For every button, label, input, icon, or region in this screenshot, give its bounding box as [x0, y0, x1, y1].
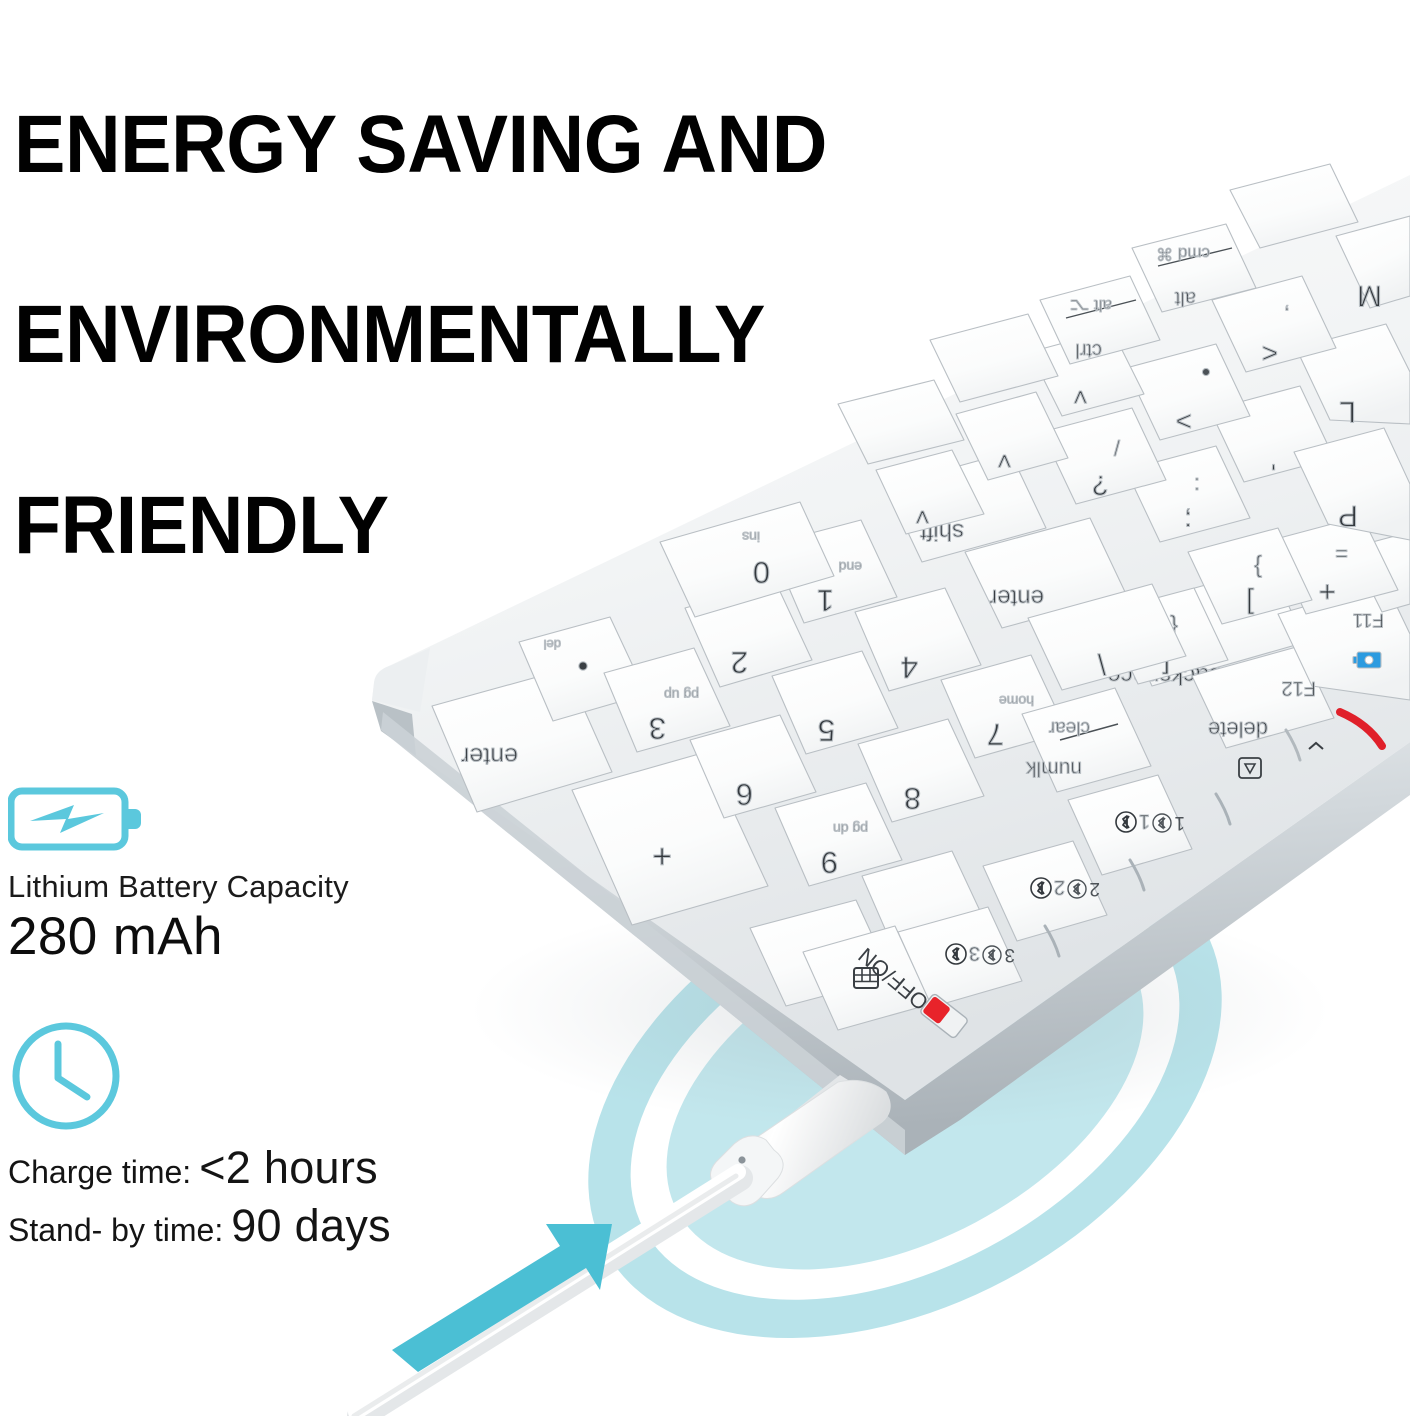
svg-text:=: = — [1335, 541, 1348, 566]
svg-text:5: 5 — [818, 713, 835, 748]
svg-text:enter: enter — [989, 584, 1044, 611]
svg-text::: : — [1194, 473, 1200, 498]
charge-time-label: Charge time: — [8, 1152, 191, 1193]
charge-direction-arrow — [392, 1224, 612, 1372]
svg-text:˅: ˅ — [1073, 382, 1088, 412]
key-comma: < , — [1212, 276, 1336, 372]
headline-line-1: ENERGY SAVING AND — [14, 97, 916, 192]
svg-text:6: 6 — [736, 777, 753, 812]
calculator-icon — [854, 968, 878, 988]
key-period: > — [1126, 344, 1250, 440]
bluetooth-icon — [946, 944, 966, 964]
headline: ENERGY SAVING AND ENVIRONMENTALLY FRIEND… — [14, 2, 916, 668]
charging-led-stripe — [1340, 712, 1382, 746]
key-alt-cmd: alt cmd ⌘ — [1132, 224, 1256, 312]
key-numpad-enter: enter — [432, 669, 612, 812]
key-backslash: \ — [1028, 584, 1186, 690]
svg-text:>: > — [1176, 406, 1192, 437]
key-slash: ? / — [1042, 408, 1166, 504]
key-bracket-left: [ { — [1104, 588, 1228, 684]
charge-time-value: <2 hours — [199, 1139, 378, 1197]
feature-charge-time: Charge time: <2 hours Stand- by time: 90… — [8, 1018, 391, 1254]
svg-text:+: + — [652, 837, 672, 875]
svg-text:2: 2 — [1054, 876, 1065, 898]
key-arrow-up: ˅ — [956, 392, 1068, 480]
key-quote: ' — [1210, 386, 1334, 482]
svg-text:?: ? — [1092, 470, 1108, 501]
svg-text:numlk: numlk — [1025, 757, 1082, 780]
key-delete: delete — [1192, 646, 1334, 748]
svg-text:M: M — [1357, 279, 1382, 312]
svg-text:': ' — [1271, 446, 1276, 476]
key-numlock-clear: numlk clear — [1022, 688, 1151, 792]
svg-text:{: { — [1170, 614, 1178, 641]
capslock-indicator-icon — [1239, 758, 1261, 778]
chassis-bluetooth-3: 3 — [983, 944, 1015, 965]
bluetooth-icon — [1116, 812, 1136, 832]
key-blank-2 — [930, 314, 1058, 402]
svg-text:9: 9 — [821, 845, 838, 880]
svg-text:F12: F12 — [1282, 677, 1316, 699]
svg-text:3: 3 — [649, 711, 666, 746]
usb-c-cable — [354, 1075, 890, 1416]
headline-line-2: ENVIRONMENTALLY — [14, 287, 916, 382]
svg-text:OFF/ON: OFF/ON — [853, 943, 933, 1016]
standby-time-label: Stand- by time: — [8, 1210, 223, 1251]
key-numpad-plus: + — [572, 752, 768, 925]
battery-charging-icon — [8, 786, 144, 852]
key-f11: F11 — [1350, 532, 1410, 630]
svg-text:]: ] — [1246, 588, 1254, 619]
key-enter-main: enter — [965, 518, 1126, 628]
key-bracket-right: ] } — [1188, 528, 1312, 624]
svg-text:L: L — [1339, 395, 1356, 428]
chassis-indicators: 3 2 1 — [983, 712, 1382, 965]
battery-capacity-label: Lithium Battery Capacity — [8, 869, 349, 905]
charge-time-line: Charge time: <2 hours — [8, 1139, 391, 1197]
svg-text:shift: shift — [920, 518, 964, 545]
key-numpad-6: 6 — [690, 715, 816, 818]
standby-time-value: 90 days — [231, 1197, 391, 1255]
key-l: L — [1296, 324, 1410, 428]
key-arrow-right: ˅ — [1030, 330, 1144, 416]
key-equals: + = — [1272, 516, 1398, 614]
key-semicolon: ; : — [1126, 446, 1250, 542]
svg-text:+: + — [1318, 575, 1336, 608]
wireless-indicator-icon — [1309, 743, 1323, 749]
svg-text:;: ; — [1184, 506, 1192, 537]
headline-line-3: FRIENDLY — [14, 478, 916, 573]
svg-text:P: P — [1338, 499, 1358, 532]
svg-text:7: 7 — [987, 717, 1004, 752]
svg-text:1: 1 — [1174, 812, 1185, 833]
key-numpad-calculator — [803, 926, 931, 1030]
product-marketing-image: enter del 3 pg up 2 — [0, 0, 1410, 1416]
cyan-glow-rings — [504, 741, 1306, 1416]
svg-text:cmd ⌘: cmd ⌘ — [1156, 244, 1210, 263]
key-numpad-asterisk: * — [862, 851, 988, 954]
svg-text:2: 2 — [1089, 878, 1100, 899]
svg-text:\: \ — [1097, 647, 1106, 680]
bluetooth-icon — [1031, 878, 1051, 898]
chassis-bluetooth-2: 2 — [1068, 878, 1100, 899]
svg-text:alt ⌥: alt ⌥ — [1070, 296, 1112, 315]
battery-status-icon — [1353, 652, 1381, 668]
svg-text:1: 1 — [1139, 810, 1150, 832]
svg-text:,: , — [1284, 303, 1290, 328]
svg-text:3: 3 — [969, 942, 980, 964]
svg-text:alt: alt — [1174, 287, 1196, 309]
key-backspace: backspace — [1107, 567, 1306, 689]
svg-text:}: } — [1254, 554, 1262, 581]
key-bluetooth-3: 3 — [898, 907, 1022, 1007]
svg-text:˅: ˅ — [915, 502, 930, 532]
power-switch-knob-on — [922, 996, 951, 1025]
battery-capacity-value: 280 mAh — [8, 907, 349, 966]
standby-time-line: Stand- by time: 90 days — [8, 1197, 391, 1255]
key-m: M — [1336, 216, 1410, 312]
svg-text:/: / — [1113, 435, 1120, 460]
chassis-bluetooth-1: 1 — [1153, 812, 1185, 833]
svg-text:pg dn: pg dn — [833, 821, 868, 837]
power-switch-track — [919, 993, 968, 1039]
key-numpad-7: 7 home — [941, 655, 1067, 758]
svg-text:[: [ — [1162, 648, 1170, 679]
svg-text:ctrl: ctrl — [1075, 339, 1102, 361]
svg-text:pg up: pg up — [664, 687, 699, 703]
svg-text:backspace: backspace — [1107, 662, 1222, 689]
keyboard-side-wall — [372, 700, 1410, 1155]
svg-text:clear: clear — [1048, 717, 1090, 738]
key-ctrl: ctrl alt ⌥ — [1040, 276, 1160, 364]
power-switch: OFF/ON — [853, 943, 968, 1039]
key-bluetooth-1: 1 — [1068, 775, 1192, 875]
svg-text:delete: delete — [1208, 717, 1268, 742]
svg-text:-: - — [809, 951, 820, 987]
svg-text:F11: F11 — [1353, 609, 1384, 630]
svg-text:<: < — [1262, 338, 1278, 369]
svg-text:˅: ˅ — [997, 446, 1012, 476]
key-numpad-9: 9 pg dn — [775, 783, 902, 886]
feature-battery-capacity: Lithium Battery Capacity 280 mAh — [8, 786, 349, 966]
key-bluetooth-2: 2 — [983, 841, 1107, 941]
key-numpad-8: 8 — [858, 719, 984, 822]
key-numpad-minus: - — [750, 900, 892, 1006]
svg-text:3: 3 — [1004, 944, 1015, 965]
key-blank-1 — [1230, 164, 1358, 248]
clock-icon — [8, 1018, 124, 1134]
svg-text:enter: enter — [461, 742, 518, 770]
key-f12: F12 — [1278, 584, 1410, 700]
key-p: P — [1294, 428, 1410, 540]
svg-text:8: 8 — [904, 781, 921, 816]
svg-text:home: home — [999, 693, 1034, 709]
svg-text:*: * — [913, 911, 925, 947]
